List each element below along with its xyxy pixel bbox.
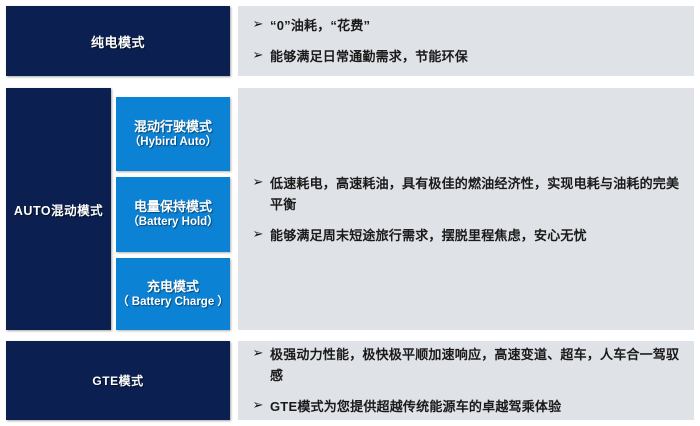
bullet-text: GTE模式为您提供超越传统能源车的卓越驾乘体验 xyxy=(270,396,680,417)
submode-label-en: （Battery Hold） xyxy=(127,215,218,230)
submode-box-battery-hold[interactable]: 电量保持模式 （Battery Hold） xyxy=(116,177,230,252)
mode-label-auto-hybrid[interactable]: AUTO混动模式 xyxy=(6,88,111,330)
submode-box-battery-charge[interactable]: 充电模式 （ Battery Charge ） xyxy=(116,258,230,330)
description-panel-gte: ➢ 极强动力性能，极快极平顺加速响应，高速变道、超车，人车合一驾驭感 ➢ GTE… xyxy=(238,341,694,420)
mode-label-text: GTE模式 xyxy=(92,372,143,389)
bullet-item: ➢ 低速耗电，高速耗油，具有极佳的燃油经济性，实现电耗与油耗的完美平衡 xyxy=(246,173,680,215)
submode-box-hybrid-auto[interactable]: 混动行驶模式 （Hybird Auto） xyxy=(116,97,230,171)
bullet-text: 能够满足周末短途旅行需求，摆脱里程焦虑，安心无忧 xyxy=(270,225,680,246)
mode-label-text: AUTO混动模式 xyxy=(14,200,103,219)
mode-label-gte[interactable]: GTE模式 xyxy=(6,341,230,420)
mode-label-text: 纯电模式 xyxy=(91,32,145,51)
bullet-item: ➢ “0”油耗，“花费” xyxy=(246,15,680,36)
submode-label-cn: 混动行驶模式 xyxy=(134,119,212,135)
arrow-bullet-icon: ➢ xyxy=(246,396,270,416)
arrow-bullet-icon: ➢ xyxy=(246,344,270,364)
arrow-bullet-icon: ➢ xyxy=(246,15,270,35)
bullet-text: 极强动力性能，极快极平顺加速响应，高速变道、超车，人车合一驾驭感 xyxy=(270,344,680,386)
bullet-item: ➢ GTE模式为您提供超越传统能源车的卓越驾乘体验 xyxy=(246,396,680,417)
arrow-bullet-icon: ➢ xyxy=(246,46,270,66)
mode-overview-diagram: 纯电模式 ➢ “0”油耗，“花费” ➢ 能够满足日常通勤需求，节能环保 AUTO… xyxy=(0,0,700,426)
mode-label-pure-electric[interactable]: 纯电模式 xyxy=(6,6,230,76)
bullet-item: ➢ 极强动力性能，极快极平顺加速响应，高速变道、超车，人车合一驾驭感 xyxy=(246,344,680,386)
submode-label-cn: 电量保持模式 xyxy=(134,199,212,215)
bullet-item: ➢ 能够满足周末短途旅行需求，摆脱里程焦虑，安心无忧 xyxy=(246,225,680,246)
arrow-bullet-icon: ➢ xyxy=(246,173,270,193)
arrow-bullet-icon: ➢ xyxy=(246,225,270,245)
description-panel-auto-hybrid: ➢ 低速耗电，高速耗油，具有极佳的燃油经济性，实现电耗与油耗的完美平衡 ➢ 能够… xyxy=(238,88,694,330)
submode-label-en: （ Battery Charge ） xyxy=(117,295,229,310)
bullet-item: ➢ 能够满足日常通勤需求，节能环保 xyxy=(246,46,680,67)
submode-label-cn: 充电模式 xyxy=(147,279,199,295)
bullet-text: “0”油耗，“花费” xyxy=(270,15,680,36)
submode-label-en: （Hybird Auto） xyxy=(129,135,217,150)
bullet-text: 能够满足日常通勤需求，节能环保 xyxy=(270,46,680,67)
description-panel-pure-electric: ➢ “0”油耗，“花费” ➢ 能够满足日常通勤需求，节能环保 xyxy=(238,6,694,76)
bullet-text: 低速耗电，高速耗油，具有极佳的燃油经济性，实现电耗与油耗的完美平衡 xyxy=(270,173,680,215)
